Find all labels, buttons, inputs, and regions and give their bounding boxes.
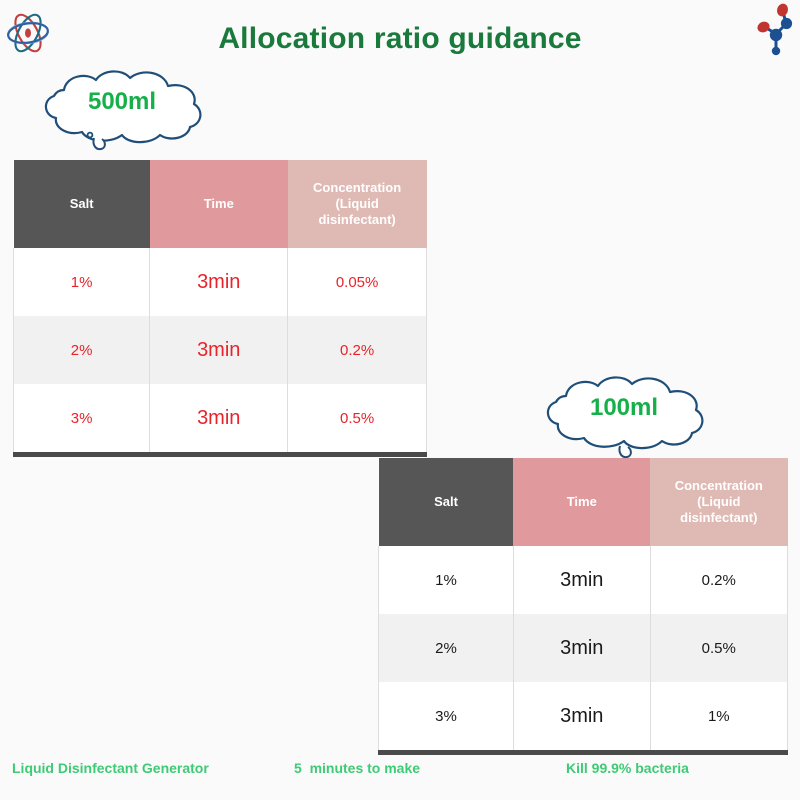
table-100ml-header: Salt Time Concentration (Liquid disinfec… [379, 458, 788, 546]
footer-item-product-name: Liquid Disinfectant Generator [12, 760, 209, 776]
cell-salt: 3% [379, 682, 514, 753]
table-row: 1% 3min 0.2% [379, 546, 788, 614]
table-row: 3% 3min 1% [379, 682, 788, 753]
concentration-line-2: (Liquid [697, 494, 740, 509]
cell-concentration: 0.2% [288, 316, 427, 384]
column-header-time: Time [150, 160, 288, 248]
callout-cloud-500ml: 500ml [22, 66, 222, 152]
table-500ml-header: Salt Time Concentration (Liquid disinfec… [14, 160, 427, 248]
page-title: Allocation ratio guidance [0, 22, 800, 56]
molecule-icon [752, 2, 800, 56]
cell-salt: 3% [14, 384, 150, 455]
cell-salt: 2% [379, 614, 514, 682]
cell-salt: 1% [379, 546, 514, 614]
cell-concentration: 1% [650, 682, 787, 753]
column-header-concentration: Concentration (Liquid disinfectant) [288, 160, 427, 248]
concentration-line-1: Concentration [313, 180, 401, 195]
cell-time: 3min [513, 614, 650, 682]
concentration-line-2: (Liquid [335, 196, 378, 211]
cell-salt: 1% [14, 248, 150, 316]
cell-concentration: 0.05% [288, 248, 427, 316]
cell-concentration: 0.2% [650, 546, 787, 614]
cell-concentration: 0.5% [650, 614, 787, 682]
table-header-row: Salt Time Concentration (Liquid disinfec… [14, 160, 427, 248]
cell-time: 3min [150, 316, 288, 384]
slide-canvas: Allocation ratio guidance 500ml [0, 0, 800, 800]
ratio-table-100ml: Salt Time Concentration (Liquid disinfec… [378, 458, 788, 755]
footer-item-efficacy: Kill 99.9% bacteria [566, 760, 689, 776]
cell-time: 3min [150, 248, 288, 316]
table-row: 2% 3min 0.5% [379, 614, 788, 682]
concentration-line-3: disinfectant) [680, 510, 757, 525]
table-row: 3% 3min 0.5% [14, 384, 427, 455]
cell-time: 3min [513, 546, 650, 614]
table-header-row: Salt Time Concentration (Liquid disinfec… [379, 458, 788, 546]
concentration-line-1: Concentration [675, 478, 763, 493]
callout-label-500ml: 500ml [22, 88, 222, 116]
table-500ml-body: 1% 3min 0.05% 2% 3min 0.2% 3% 3min 0.5% [14, 248, 427, 455]
cell-time: 3min [150, 384, 288, 455]
table-row: 2% 3min 0.2% [14, 316, 427, 384]
column-header-concentration: Concentration (Liquid disinfectant) [650, 458, 787, 546]
table-row: 1% 3min 0.05% [14, 248, 427, 316]
column-header-salt: Salt [379, 458, 514, 546]
column-header-salt: Salt [14, 160, 150, 248]
ratio-table-500ml: Salt Time Concentration (Liquid disinfec… [13, 160, 427, 457]
callout-label-100ml: 100ml [524, 394, 724, 422]
cell-salt: 2% [14, 316, 150, 384]
callout-cloud-100ml: 100ml [524, 372, 724, 458]
cell-concentration: 0.5% [288, 384, 427, 455]
concentration-line-3: disinfectant) [318, 212, 395, 227]
table-100ml-body: 1% 3min 0.2% 2% 3min 0.5% 3% 3min 1% [379, 546, 788, 753]
footer-item-make-time: 5 minutes to make [294, 760, 420, 776]
column-header-time: Time [513, 458, 650, 546]
cell-time: 3min [513, 682, 650, 753]
footer-bar: Liquid Disinfectant Generator 5 minutes … [0, 760, 800, 786]
